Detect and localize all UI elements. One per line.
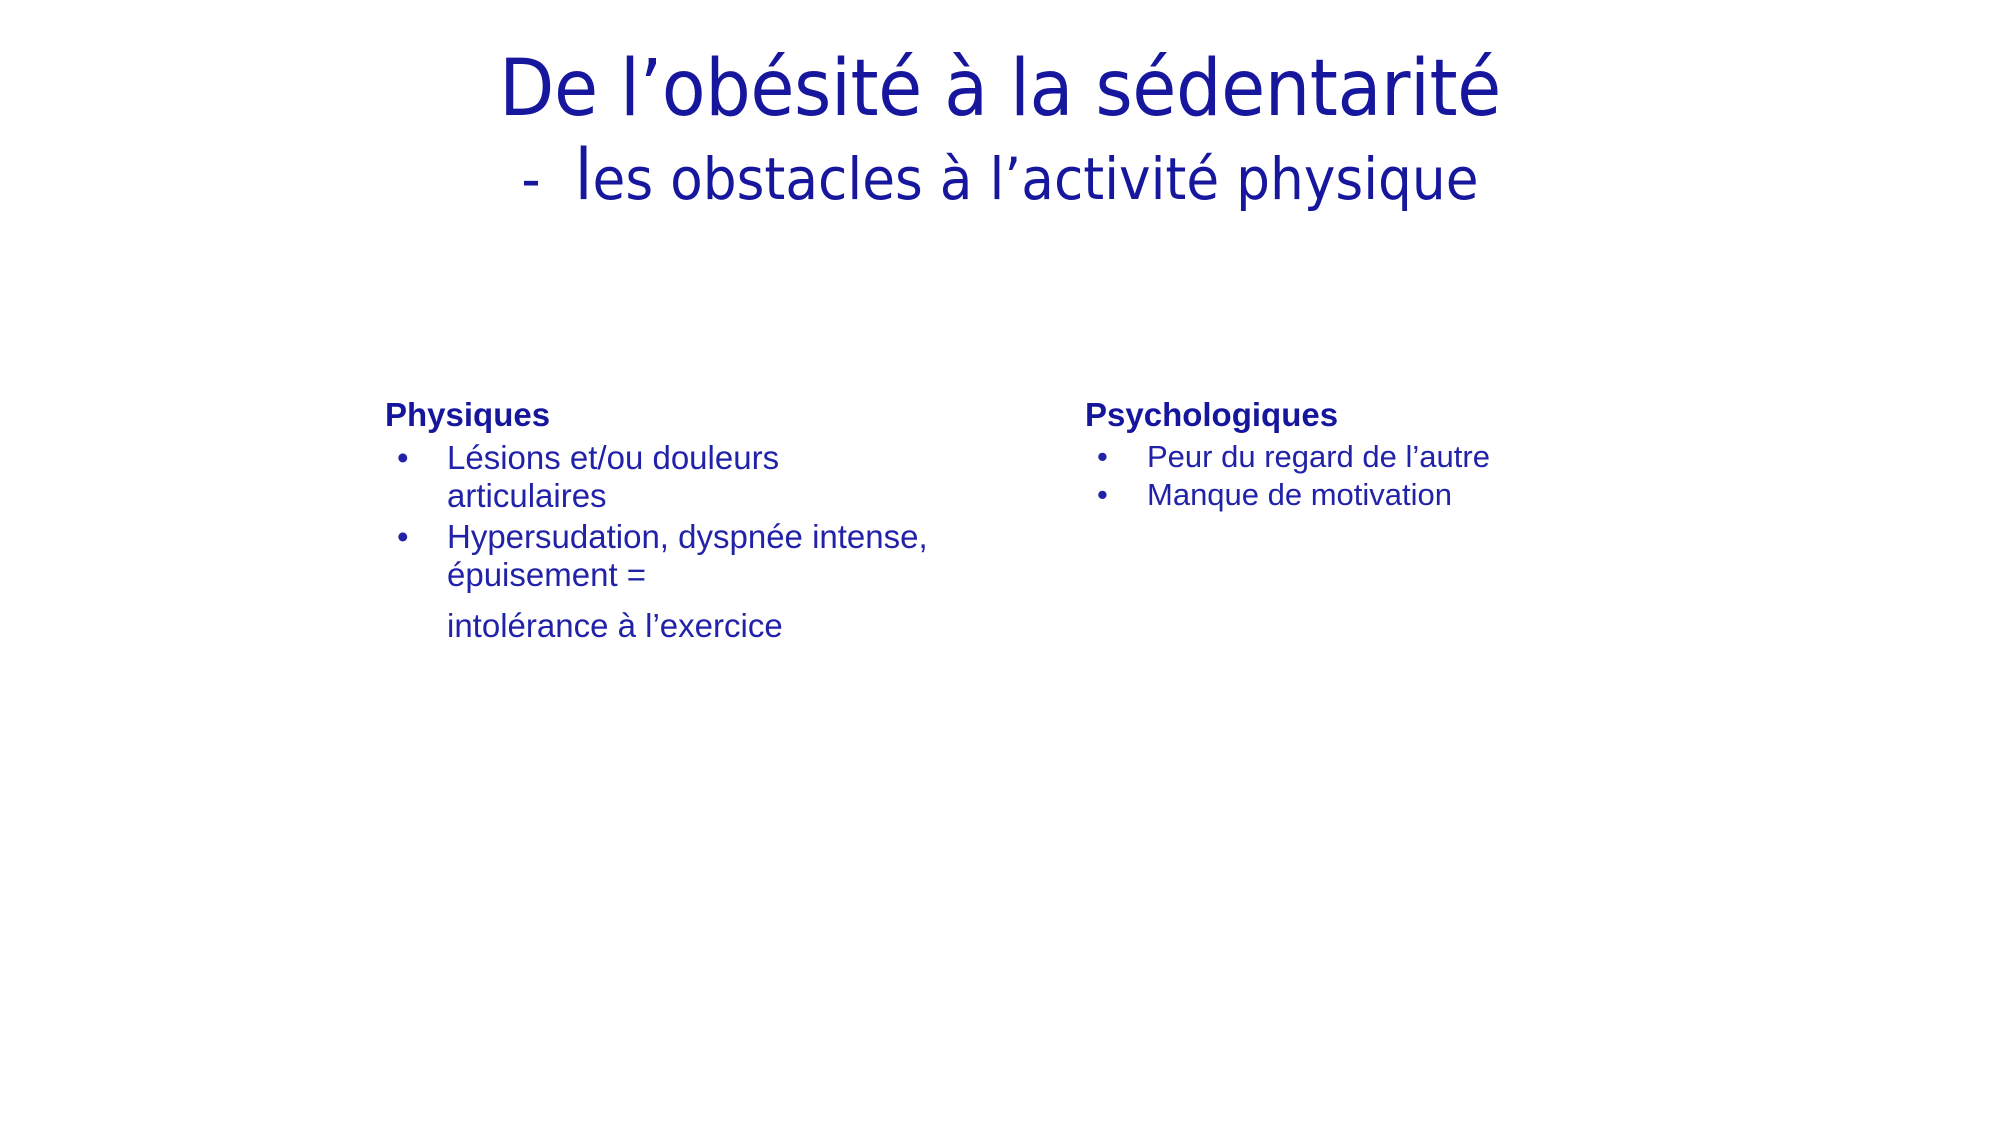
continuation-text-intolerance: intolérance à l’exercice	[385, 607, 945, 646]
list-item: • Lésions et/ou douleurs articulaires	[385, 439, 945, 516]
list-item-text: Peur du regard de l’autre	[1147, 439, 1490, 474]
title-subtitle-rest: es obstacles à l’activité physique	[593, 145, 1479, 213]
slide-title-line-1: De l’obésité à la sédentarité	[80, 46, 1920, 133]
list-item: • Peur du regard de l’autre	[1085, 439, 1625, 475]
bullet-dot-icon: •	[1097, 439, 1108, 475]
bullet-dot-icon: •	[1097, 477, 1108, 513]
title-dash: -	[521, 145, 540, 213]
column-heading-psychologiques: Psychologiques	[1085, 395, 1625, 435]
list-item-text: Hypersudation, dyspnée intense, épuiseme…	[447, 518, 928, 594]
slide-canvas: De l’obésité à la sédentarité - les obst…	[0, 0, 2000, 1125]
list-item: • Hypersudation, dyspnée intense, épuise…	[385, 518, 945, 595]
column-physiques: Physiques • Lésions et/ou douleurs artic…	[385, 395, 945, 646]
list-item-text: Lésions et/ou douleurs articulaires	[447, 439, 779, 515]
bullet-list-psychologiques: • Peur du regard de l’autre • Manque de …	[1085, 439, 1625, 514]
slide-title-line-2: - les obstacles à l’activité physique	[80, 143, 1920, 216]
list-item-text: Manque de motivation	[1147, 477, 1452, 512]
slide-title-block: De l’obésité à la sédentarité - les obst…	[0, 46, 2000, 216]
content-columns: Physiques • Lésions et/ou douleurs artic…	[0, 395, 2000, 815]
list-item: • Manque de motivation	[1085, 477, 1625, 513]
column-psychologiques: Psychologiques • Peur du regard de l’aut…	[1085, 395, 1625, 515]
bullet-dot-icon: •	[397, 439, 409, 478]
bullet-dot-icon: •	[397, 518, 409, 557]
column-heading-physiques: Physiques	[385, 395, 945, 435]
bullet-list-physiques: • Lésions et/ou douleurs articulaires • …	[385, 439, 945, 595]
title-drop-cap: l	[575, 134, 593, 216]
